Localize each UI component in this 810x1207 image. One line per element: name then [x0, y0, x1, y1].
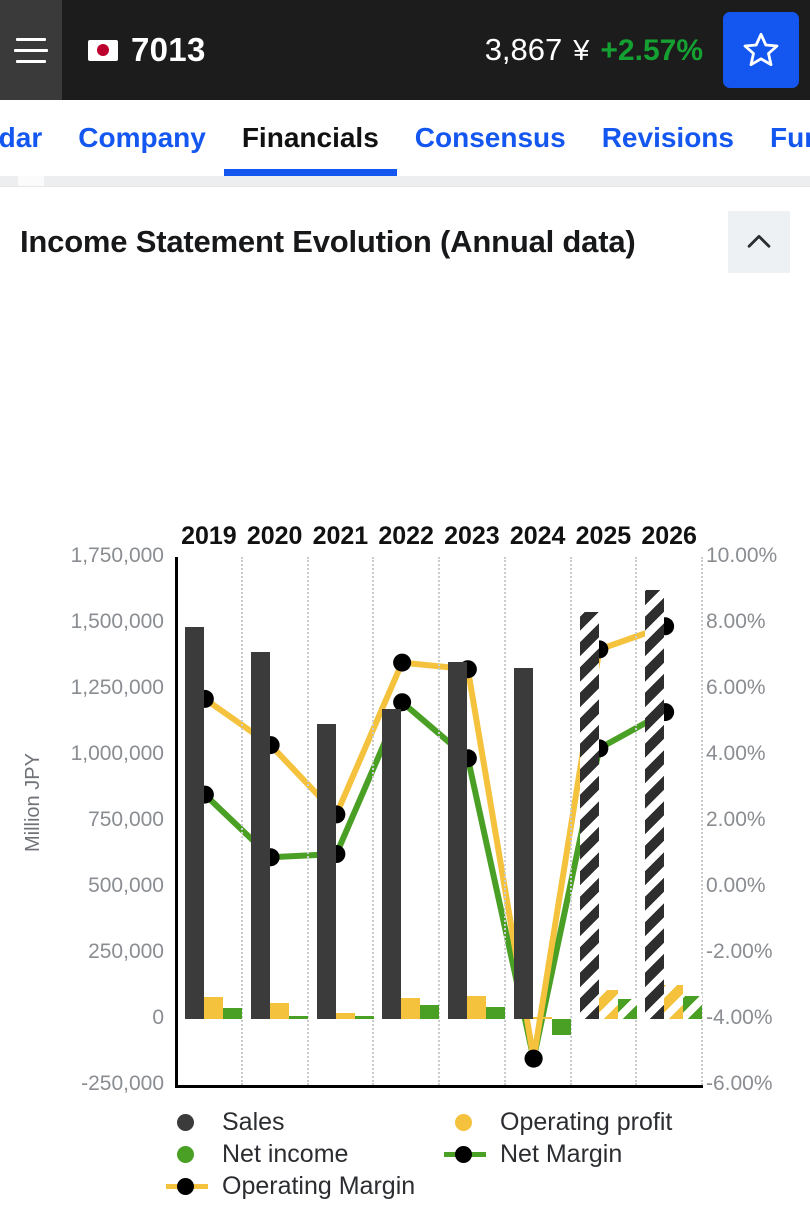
- tabs-scrollbar[interactable]: [0, 176, 810, 186]
- legend-label: Operating Margin: [222, 1172, 415, 1201]
- income-statement-card: Income Statement Evolution (Annual data)…: [0, 186, 810, 1023]
- gridline: [570, 557, 572, 1085]
- y-tick-right: 4.00%: [706, 742, 810, 766]
- y-tick-left: -250,000: [34, 1072, 164, 1096]
- app-topbar: 7013 3,867 ¥ +2.57%: [0, 0, 810, 100]
- tab-fund[interactable]: Fund: [752, 100, 810, 176]
- legend-marker-icon: [166, 1175, 208, 1197]
- legend-item[interactable]: Operating Margin: [166, 1171, 444, 1201]
- bar-net-income: [420, 1005, 439, 1019]
- gridline: [241, 557, 243, 1085]
- x-tick-label: 2022: [373, 522, 439, 551]
- y-tick-right: 2.00%: [706, 808, 810, 832]
- quote-currency: ¥: [573, 35, 589, 68]
- quote-change: +2.57%: [600, 34, 703, 68]
- ticker-code: 7013: [131, 31, 206, 69]
- x-tick-label: 2026: [636, 522, 702, 551]
- y-tick-left: 500,000: [34, 874, 164, 898]
- ticker-block[interactable]: 7013: [88, 31, 206, 69]
- hamburger-icon[interactable]: [0, 0, 62, 100]
- legend-item[interactable]: Operating profit: [444, 1107, 774, 1137]
- tab-consensus[interactable]: Consensus: [397, 100, 584, 176]
- tab-company[interactable]: Company: [60, 100, 224, 176]
- gridline: [307, 557, 309, 1085]
- star-icon: [741, 30, 781, 70]
- card-header: Income Statement Evolution (Annual data): [0, 187, 810, 297]
- bar-net-income: [552, 1019, 571, 1035]
- legend-label: Sales: [222, 1108, 285, 1137]
- y-tick-right: 8.00%: [706, 610, 810, 634]
- bar-net-income: [618, 999, 637, 1019]
- x-tick-label: 2021: [307, 522, 373, 551]
- bar-sales: [514, 668, 533, 1019]
- bar-operating-profit: [336, 1013, 355, 1019]
- gridline: [372, 557, 374, 1085]
- y-tick-left: 0: [34, 1006, 164, 1030]
- legend-marker-icon: [444, 1143, 486, 1165]
- y-tick-left: 1,500,000: [34, 610, 164, 634]
- x-tick-label: 2023: [439, 522, 505, 551]
- chevron-up-icon: [742, 225, 776, 259]
- quote-block: 3,867 ¥ +2.57%: [485, 32, 723, 68]
- bar-net-income: [683, 996, 702, 1019]
- bar-operating-profit: [467, 996, 486, 1019]
- quote-price: 3,867: [485, 32, 563, 68]
- main-tabs[interactable]: endarCompanyFinancialsConsensusRevisions…: [0, 100, 810, 186]
- legend-label: Operating profit: [500, 1108, 672, 1137]
- bar-sales: [251, 652, 270, 1019]
- y-axis-title: Million JPY: [22, 753, 45, 852]
- page-title: Income Statement Evolution (Annual data): [20, 224, 636, 260]
- bar-sales: [645, 590, 664, 1019]
- bar-operating-profit: [204, 997, 223, 1019]
- legend-marker-icon: [166, 1143, 208, 1165]
- operating-margin-point: [393, 654, 411, 672]
- y-tick-left: 250,000: [34, 940, 164, 964]
- legend-item[interactable]: Net Margin: [444, 1139, 774, 1169]
- hamburger-line: [16, 38, 46, 41]
- bar-sales: [382, 709, 401, 1019]
- bar-operating-profit: [599, 990, 618, 1019]
- bar-operating-profit: [664, 985, 683, 1019]
- y-tick-right: 10.00%: [706, 544, 810, 568]
- tab-endar[interactable]: endar: [0, 100, 60, 176]
- bar-net-income: [223, 1008, 242, 1019]
- y-tick-left: 750,000: [34, 808, 164, 832]
- tabs-scrollbar-thumb[interactable]: [18, 176, 44, 186]
- income-statement-chart: Million JPY 1,750,0001,500,0001,250,0001…: [0, 297, 810, 1117]
- legend-label: Net Margin: [500, 1140, 622, 1169]
- bar-operating-profit: [401, 998, 420, 1019]
- legend-item[interactable]: Net income: [166, 1139, 444, 1169]
- bar-operating-profit: [533, 1017, 552, 1019]
- favorite-button[interactable]: [723, 12, 799, 88]
- legend-item[interactable]: Sales: [166, 1107, 444, 1137]
- y-tick-left: 1,750,000: [34, 544, 164, 568]
- legend-marker-icon: [444, 1111, 486, 1133]
- y-tick-right: -4.00%: [706, 1006, 810, 1030]
- x-tick-label: 2025: [570, 522, 636, 551]
- y-tick-right: 6.00%: [706, 676, 810, 700]
- bar-sales: [580, 612, 599, 1019]
- chart-legend[interactable]: SalesOperating profitNet incomeNet Margi…: [166, 1107, 810, 1207]
- bar-sales: [185, 627, 204, 1019]
- collapse-button[interactable]: [728, 211, 790, 273]
- y-tick-right: -2.00%: [706, 940, 810, 964]
- bar-net-income: [355, 1016, 374, 1019]
- x-tick-label: 2024: [505, 522, 571, 551]
- x-tick-label: 2019: [176, 522, 242, 551]
- legend-marker-icon: [166, 1111, 208, 1133]
- tab-revisions[interactable]: Revisions: [584, 100, 752, 176]
- plot-area: 20192020202120222023202420252026: [176, 557, 702, 1085]
- y-tick-left: 1,000,000: [34, 742, 164, 766]
- hamburger-line: [14, 49, 48, 52]
- bar-operating-profit: [270, 1003, 289, 1019]
- y-tick-right: -6.00%: [706, 1072, 810, 1096]
- japan-flag-icon: [88, 40, 118, 61]
- legend-label: Net income: [222, 1140, 348, 1169]
- bar-sales: [317, 724, 336, 1019]
- plot-axis-bottom: [175, 1085, 703, 1088]
- bar-net-income: [289, 1016, 308, 1019]
- bar-net-income: [486, 1007, 505, 1019]
- operating-margin-point: [525, 1050, 543, 1068]
- y-tick-left: 1,250,000: [34, 676, 164, 700]
- tab-financials[interactable]: Financials: [224, 100, 397, 176]
- x-tick-label: 2020: [242, 522, 308, 551]
- y-tick-right: 0.00%: [706, 874, 810, 898]
- hamburger-line: [16, 60, 46, 63]
- bar-sales: [448, 662, 467, 1019]
